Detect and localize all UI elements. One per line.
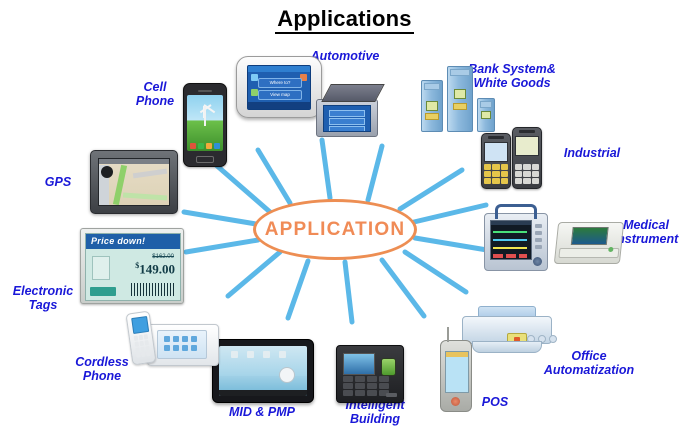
label-office-automatization: Office Automatization <box>534 349 644 377</box>
car-nav-where-to-button[interactable]: Where to? <box>258 78 302 88</box>
automotive-monitor-screen <box>323 105 371 132</box>
ecg-screen <box>571 227 609 245</box>
spoke-electronic-tags <box>186 240 258 252</box>
gps-screen <box>98 158 170 206</box>
device-fingerprint-terminal <box>336 345 404 403</box>
handheld-screen-2 <box>515 136 539 156</box>
device-smartphone <box>183 83 227 167</box>
etag-barcode <box>131 283 175 296</box>
phone-speaker-icon <box>198 90 212 92</box>
device-electronic-shelf-label: Price down! $162.00 $149.00 <box>80 228 184 304</box>
phone-home-button <box>196 156 214 163</box>
gps-direction-arrow-icon <box>101 166 113 178</box>
spoke-industrial-b <box>414 205 486 222</box>
device-rugged-handhelds <box>481 127 543 189</box>
cordless-base-screen <box>157 330 207 359</box>
pos-screen <box>445 351 469 393</box>
spoke-automotive-a <box>258 150 290 203</box>
spoke-industrial-a <box>400 170 462 209</box>
device-ecg-recorder <box>556 222 622 264</box>
spoke-cordless-phone <box>228 252 280 296</box>
spoke-medical <box>415 238 487 250</box>
device-patient-monitor <box>484 213 548 271</box>
device-tablet <box>212 339 314 403</box>
spoke-mid-pmp <box>288 261 308 318</box>
device-cordless-phone <box>125 312 217 366</box>
spoke-pos <box>382 260 424 316</box>
spoke-bank-system <box>368 146 382 200</box>
device-car-navigation: Where to? View map <box>236 56 322 118</box>
diagram-canvas: Applications APPLICATION Cell P <box>0 0 689 443</box>
monitor-rotary-knob[interactable] <box>533 257 542 266</box>
device-portable-navigation <box>90 150 178 214</box>
label-electronic-tags: Electronic Tags <box>4 284 82 312</box>
label-cell-phone: Cell Phone <box>120 80 190 108</box>
etag-old-price: $162.00 <box>152 254 174 260</box>
label-gps: GPS <box>36 175 80 189</box>
etag-new-price: $149.00 <box>135 261 175 277</box>
center-node: APPLICATION <box>253 199 417 260</box>
device-inkjet-printer <box>462 306 550 354</box>
etag-new-price-value: 149.00 <box>139 261 175 276</box>
fingerprint-terminal-screen <box>343 353 375 375</box>
label-industrial: Industrial <box>552 146 632 160</box>
monitor-handle <box>495 204 537 219</box>
spoke-gps <box>184 212 256 224</box>
spoke-intelligent-building <box>345 262 352 322</box>
handheld-keypad-2[interactable] <box>515 164 539 184</box>
device-pos-terminal <box>440 340 472 412</box>
cordless-handset <box>125 311 156 366</box>
etag-headline: Price down! <box>86 234 180 249</box>
tablet-screen <box>219 346 307 396</box>
label-mid-pmp: MID & PMP <box>215 405 309 419</box>
handheld-screen-1 <box>484 142 508 162</box>
patient-monitor-screen <box>490 220 532 260</box>
spoke-office <box>405 252 466 292</box>
center-node-label: APPLICATION <box>265 219 406 241</box>
spoke-automotive-b <box>322 140 330 198</box>
pos-power-button[interactable] <box>451 397 460 406</box>
device-control-drives <box>421 66 495 132</box>
phone-screen <box>187 95 223 151</box>
device-automotive-monitor <box>316 84 378 132</box>
label-pos: POS <box>473 395 517 409</box>
fingerprint-sensor-icon[interactable] <box>381 358 396 376</box>
pos-antenna <box>447 327 449 342</box>
car-nav-view-map-button[interactable]: View map <box>258 90 302 100</box>
handheld-keypad-1[interactable] <box>484 164 508 184</box>
car-nav-screen: Where to? View map <box>247 65 311 110</box>
etag-badge <box>90 287 116 296</box>
fingerprint-terminal-keypad[interactable] <box>343 376 389 396</box>
tablet-clock-widget <box>279 367 295 383</box>
